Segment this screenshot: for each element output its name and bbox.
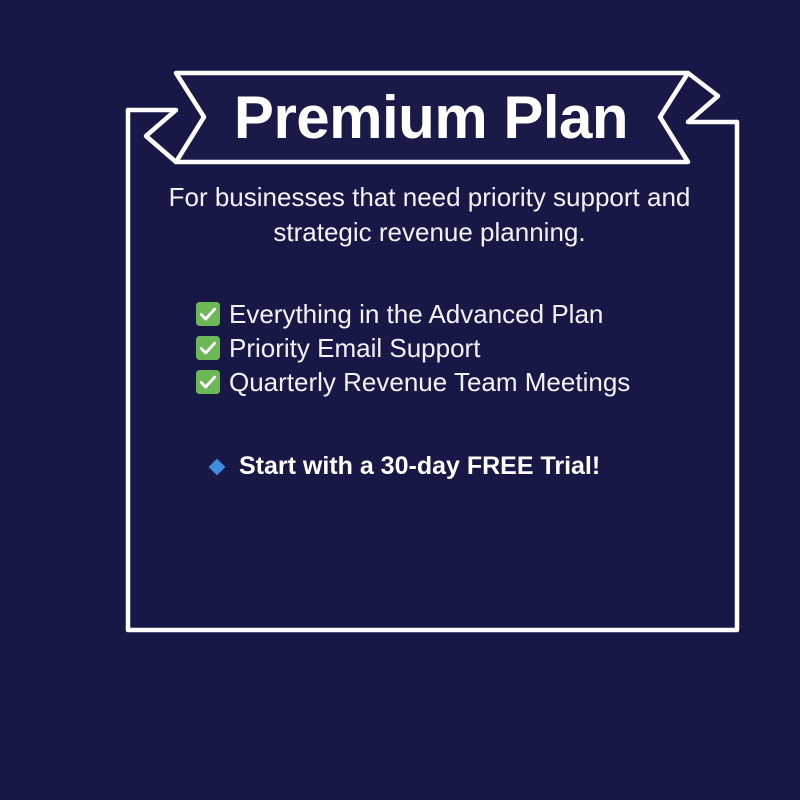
check-square-icon <box>196 302 220 326</box>
check-square-icon <box>196 336 220 360</box>
check-square-icon <box>196 370 220 394</box>
premium-plan-card: Premium Plan For businesses that need pr… <box>0 0 800 800</box>
plan-description: For businesses that need priority suppor… <box>122 180 737 249</box>
ribbon-tail-left <box>128 110 176 162</box>
list-item-label: Everything in the Advanced Plan <box>229 301 603 327</box>
page-title: Premium Plan <box>172 73 690 162</box>
list-item: Priority Email Support <box>196 331 636 365</box>
free-trial-label: Start with a 30-day FREE Trial! <box>239 454 600 479</box>
list-item-label: Priority Email Support <box>229 335 480 361</box>
list-item-label: Quarterly Revenue Team Meetings <box>229 369 630 395</box>
feature-list: Everything in the Advanced Plan Priority… <box>196 297 636 399</box>
free-trial-callout: Start with a 30-day FREE Trial! <box>208 454 737 479</box>
list-item: Everything in the Advanced Plan <box>196 297 636 331</box>
diamond-bullet-icon <box>208 458 226 476</box>
card-content: For businesses that need priority suppor… <box>122 180 737 479</box>
list-item: Quarterly Revenue Team Meetings <box>196 365 636 399</box>
ribbon-tail-right <box>688 73 737 122</box>
